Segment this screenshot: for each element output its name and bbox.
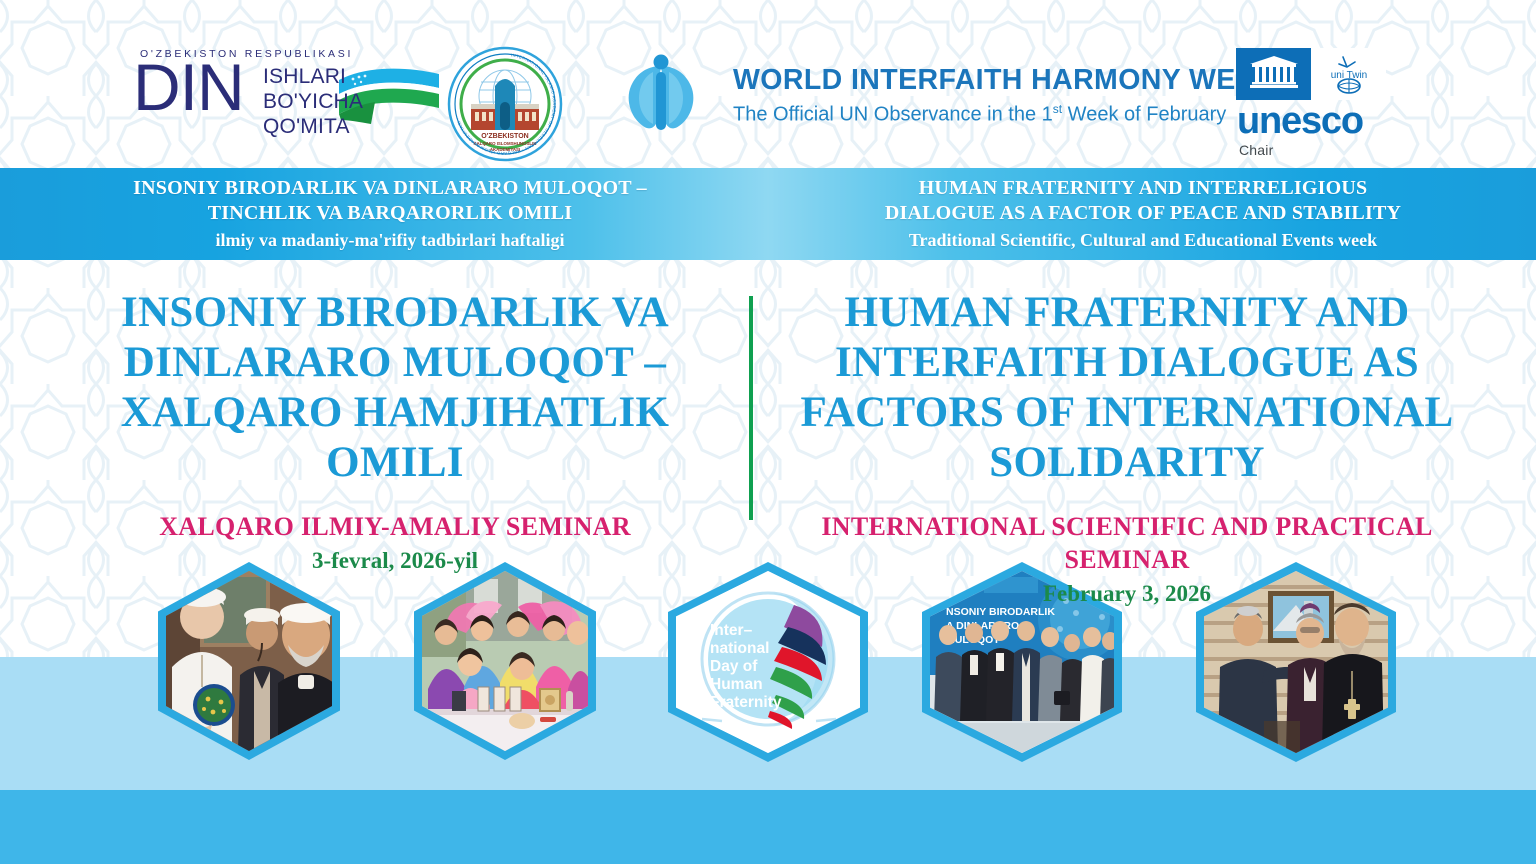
poster-root: O'ZBEKISTON RESPUBLIKASI DIN ISHLARI BO'… — [0, 0, 1536, 864]
main-uz-date: 3-fevral, 2026-yil — [60, 547, 730, 575]
main-english-column: HUMAN FRATERNITY AND INTERFAITH DIALOGUE… — [772, 260, 1482, 608]
unitwin-half: uni Twin — [1311, 48, 1386, 100]
banner-uzbek-column: INSONIY BIRODARLIK VA DINLARARO MULOQOT … — [40, 168, 740, 260]
banner-uz-line-1: INSONIY BIRODARLIK VA DINLARARO MULOQOT … — [133, 176, 647, 201]
butterfly-people-icon — [613, 46, 709, 142]
wihw-subtitle-ordinal: st — [1053, 102, 1062, 116]
unesco-chair-logo: uni Twin unesco Chair — [1236, 48, 1416, 156]
main-uzbek-column: INSONIY BIRODARLIK VA DINLARARO MULOQOT … — [60, 260, 730, 575]
banner-en-line-3: Traditional Scientific, Cultural and Edu… — [909, 228, 1377, 252]
idhf-line-5: Fraternity — [710, 694, 782, 711]
main-uz-subtitle: XALQARO ILMIY-AMALIY SEMINAR — [60, 510, 730, 543]
idhf-line-1: Inter– — [710, 622, 753, 639]
idhf-line-2: national — [710, 640, 769, 657]
main-uz-title: INSONIY BIRODARLIK VA DINLARARO MULOQOT … — [60, 288, 730, 488]
hex-photo-women-in-traditional-dress-image — [422, 571, 588, 751]
unesco-emblem-box: uni Twin — [1236, 48, 1386, 100]
main-en-subtitle: INTERNATIONAL SCIENTIFIC AND PRACTICAL S… — [772, 510, 1482, 576]
idhf-line-3: Day of — [710, 658, 758, 675]
green-vertical-divider — [749, 296, 753, 520]
header-logo-strip: O'ZBEKISTON RESPUBLIKASI DIN ISHLARI BO'… — [0, 0, 1536, 168]
banner-english-column: HUMAN FRATERNITY AND INTERRELIGIOUS DIAL… — [790, 168, 1496, 260]
din-line-2: BO'YICHA — [263, 89, 363, 114]
din-line-3: QO'MITA — [263, 114, 363, 139]
unesco-wordmark: unesco — [1237, 102, 1363, 140]
unesco-chair-label: Chair — [1239, 142, 1273, 158]
wihw-title: WORLD INTERFAITH HARMONY WEEK — [733, 64, 1276, 97]
banner-en-line-1: HUMAN FRATERNITY AND INTERRELIGIOUS — [919, 176, 1368, 201]
bilingual-blue-banner: INSONIY BIRODARLIK VA DINLARARO MULOQOT … — [0, 168, 1536, 260]
wihw-subtitle-after: Week of February — [1062, 104, 1226, 126]
unesco-temple-half — [1236, 48, 1311, 100]
wihw-subtitle-before: The Official UN Observance in the 1 — [733, 104, 1053, 126]
world-interfaith-harmony-week-logo: WORLD INTERFAITH HARMONY WEEK The Offici… — [613, 46, 1183, 150]
din-committee-logo: O'ZBEKISTON RESPUBLIKASI DIN ISHLARI BO'… — [133, 48, 423, 136]
main-title-area: INSONIY BIRODARLIK VA DINLARARO MULOQOT … — [0, 260, 1536, 560]
svg-text:O'ZBEKISTON: O'ZBEKISTON — [481, 133, 528, 140]
banner-en-line-2: DIALOGUE AS A FACTOR OF PEACE AND STABIL… — [885, 201, 1401, 226]
idhf-line-4: Human — [710, 676, 763, 693]
dark-blue-footer-band — [0, 790, 1536, 864]
banner-uz-line-3: ilmiy va madaniy-ma'rifiy tadbirlari haf… — [216, 228, 565, 252]
academy-seal-icon: O'ZBEKISTON XALQARO ISLOMSHUNOSLIK AKADE… — [447, 46, 563, 162]
unitwin-globe-icon: uni Twin — [1321, 53, 1377, 95]
wihw-subtitle: The Official UN Observance in the 1st We… — [733, 102, 1226, 127]
hex-photo-pope-and-grand-imam-image — [166, 571, 332, 751]
din-acronym: DIN — [133, 54, 244, 120]
unesco-temple-icon — [1247, 56, 1301, 92]
main-en-date: February 3, 2026 — [772, 580, 1482, 608]
din-line-1: ISHLARI — [263, 64, 363, 89]
banner-uz-line-2: TINCHLIK VA BARQARORLIK OMILI — [208, 201, 573, 226]
hex-photo-pope-and-grand-imam — [158, 562, 340, 760]
din-wordmark-lines: ISHLARI BO'YICHA QO'MITA — [263, 64, 363, 139]
hex-photo-women-in-traditional-dress — [414, 562, 596, 760]
main-en-title: HUMAN FRATERNITY AND INTERFAITH DIALOGUE… — [772, 288, 1482, 488]
